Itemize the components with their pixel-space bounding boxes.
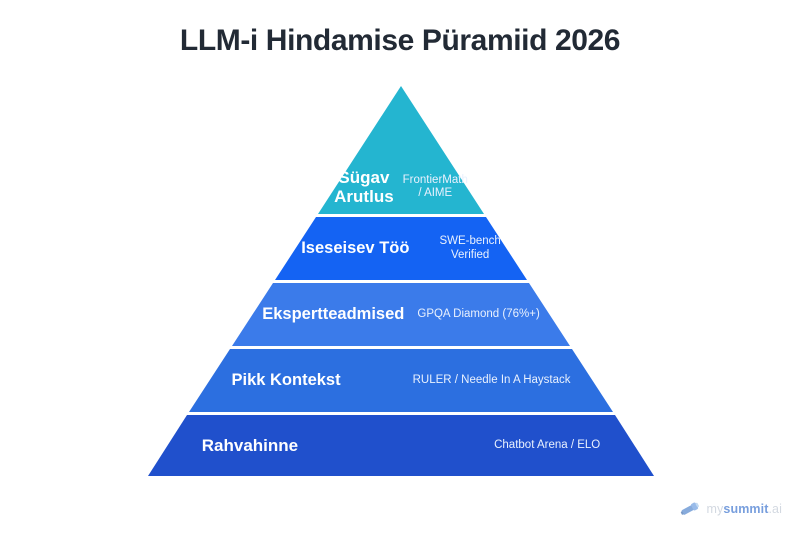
- pyramid-level-3-shape: [148, 283, 654, 346]
- pyramid-level-4-shape: [148, 349, 654, 412]
- pyramid-level-5[interactable]: Rahvahinne Chatbot Arena / ELO: [148, 415, 654, 476]
- watermark-brand: summit: [723, 502, 768, 516]
- watermark-suffix: .ai: [768, 502, 782, 516]
- pyramid-level-1[interactable]: Sügav Arutlus FrontierMath / AIME: [148, 86, 654, 214]
- watermark-text: mysummit.ai: [707, 502, 782, 516]
- pyramid-level-3[interactable]: Ekspertteadmised GPQA Diamond (76%+): [148, 283, 654, 346]
- pyramid-diagram: Sügav Arutlus FrontierMath / AIME Isesei…: [148, 86, 654, 476]
- page-title: LLM-i Hindamise Püramiid 2026: [0, 24, 800, 58]
- watermark-prefix: my: [707, 502, 724, 516]
- diagram-canvas: LLM-i Hindamise Püramiid 2026 Sügav Arut…: [0, 0, 800, 533]
- pyramid-level-2-shape: [148, 217, 654, 280]
- pyramid-level-2[interactable]: Iseseisev Töö SWE-bench Verified: [148, 217, 654, 280]
- pyramid-level-5-shape: [148, 415, 654, 476]
- watermark: mysummit.ai: [679, 501, 782, 517]
- pyramid-level-4[interactable]: Pikk Kontekst RULER / Needle In A Haysta…: [148, 349, 654, 412]
- pyramid-level-1-shape: [148, 86, 654, 214]
- telescope-icon: [679, 501, 701, 517]
